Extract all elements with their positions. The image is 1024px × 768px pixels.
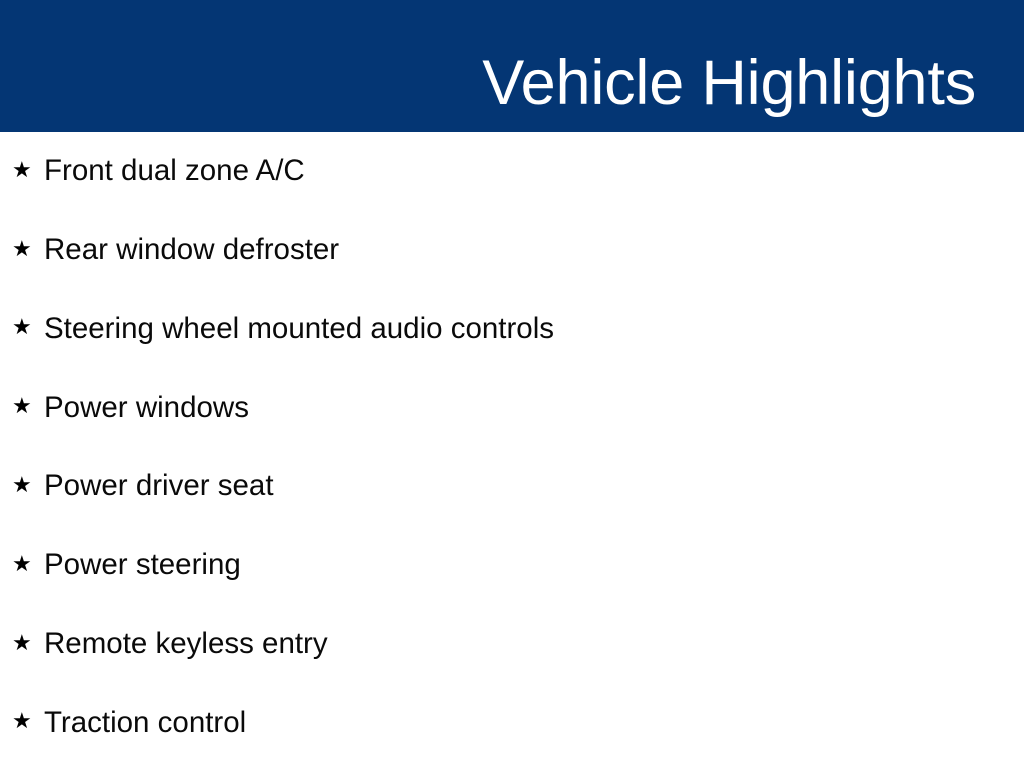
- list-item: ★ Power driver seat: [0, 447, 1024, 526]
- star-icon: ★: [12, 475, 36, 497]
- slide-canvas: Vehicle Highlights ★ Front dual zone A/C…: [0, 0, 1024, 768]
- star-icon: ★: [12, 160, 36, 182]
- star-icon: ★: [12, 396, 36, 418]
- list-item-label: Traction control: [44, 707, 246, 739]
- list-item: ★ Steering wheel mounted audio controls: [0, 290, 1024, 369]
- list-item-label: Steering wheel mounted audio controls: [44, 313, 554, 345]
- star-icon: ★: [12, 554, 36, 576]
- list-item: ★ Rear window defroster: [0, 211, 1024, 290]
- list-item: ★ Power steering: [0, 526, 1024, 605]
- list-item: ★ Traction control: [0, 684, 1024, 763]
- vehicle-highlights-list: ★ Front dual zone A/C ★ Rear window defr…: [0, 132, 1024, 762]
- list-item: ★ Remote keyless entry: [0, 605, 1024, 684]
- list-item: ★ Front dual zone A/C: [0, 132, 1024, 211]
- list-item: ★ Power windows: [0, 368, 1024, 447]
- list-item-label: Rear window defroster: [44, 234, 339, 266]
- page-title: Vehicle Highlights: [482, 52, 976, 115]
- list-item-label: Power windows: [44, 392, 249, 424]
- list-item-label: Remote keyless entry: [44, 628, 328, 660]
- star-icon: ★: [12, 317, 36, 339]
- list-item-label: Front dual zone A/C: [44, 155, 305, 187]
- star-icon: ★: [12, 711, 36, 733]
- list-item-label: Power driver seat: [44, 470, 274, 502]
- list-item-label: Power steering: [44, 549, 241, 581]
- star-icon: ★: [12, 239, 36, 261]
- header-banner: Vehicle Highlights: [0, 0, 1024, 132]
- star-icon: ★: [12, 633, 36, 655]
